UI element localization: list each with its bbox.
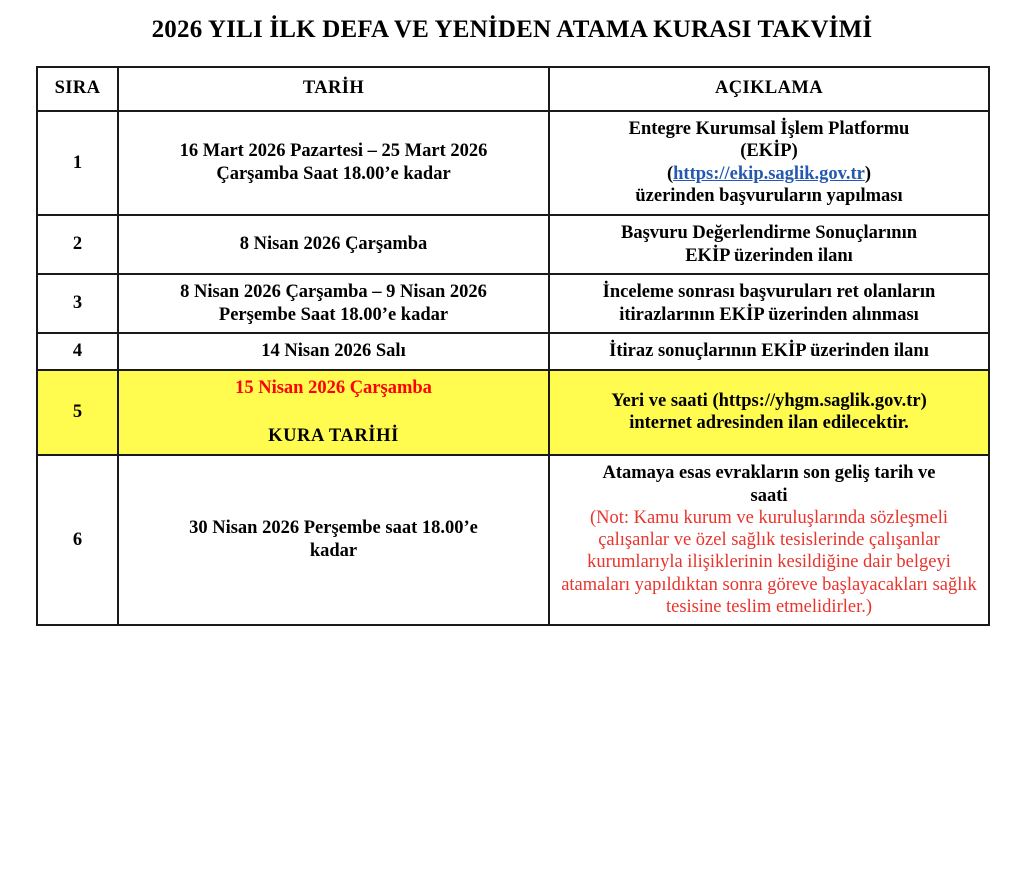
column-header-aciklama: AÇIKLAMA — [549, 67, 989, 111]
row-description: İtiraz sonuçlarının EKİP üzerinden ilanı — [549, 333, 989, 370]
row-date-line: kadar — [127, 540, 540, 563]
row-date-line: 30 Nisan 2026 Perşembe saat 18.00’e — [127, 517, 540, 540]
table-row: 6 30 Nisan 2026 Perşembe saat 18.00’e ka… — [37, 455, 989, 625]
description-line: İtiraz sonuçlarının EKİP üzerinden ilanı — [558, 340, 980, 363]
row-number: 2 — [37, 215, 118, 274]
row-description: Başvuru Değerlendirme Sonuçlarının EKİP … — [549, 215, 989, 274]
kura-takvimi-table: SIRA TARİH AÇIKLAMA 1 16 Mart 2026 Pazar… — [36, 66, 990, 626]
description-note: (Not: Kamu kurum ve kuruluşlarında sözle… — [558, 507, 980, 618]
row-description: Yeri ve saati (https://yhgm.saglik.gov.t… — [549, 370, 989, 455]
row-date-line: 8 Nisan 2026 Çarşamba — [127, 233, 540, 256]
row-date: 15 Nisan 2026 Çarşamba KURA TARİHİ — [118, 370, 549, 455]
table-row: 4 14 Nisan 2026 Salı İtiraz sonuçlarının… — [37, 333, 989, 370]
description-line: İnceleme sonrası başvuruları ret olanlar… — [558, 281, 980, 304]
row-number: 3 — [37, 274, 118, 333]
description-line: EKİP üzerinden ilanı — [558, 245, 980, 268]
description-line: Başvuru Değerlendirme Sonuçlarının — [558, 222, 980, 245]
table-header-row: SIRA TARİH AÇIKLAMA — [37, 67, 989, 111]
row-date: 14 Nisan 2026 Salı — [118, 333, 549, 370]
row-description: İnceleme sonrası başvuruları ret olanlar… — [549, 274, 989, 333]
row-date: 8 Nisan 2026 Çarşamba – 9 Nisan 2026 Per… — [118, 274, 549, 333]
table-row: 1 16 Mart 2026 Pazartesi – 25 Mart 2026 … — [37, 111, 989, 215]
description-line: internet adresinden ilan edilecektir. — [558, 412, 980, 435]
row-date: 16 Mart 2026 Pazartesi – 25 Mart 2026 Ça… — [118, 111, 549, 215]
row-date-line: 16 Mart 2026 Pazartesi – 25 Mart 2026 — [127, 140, 540, 163]
row-date-line: 14 Nisan 2026 Salı — [127, 340, 540, 363]
column-header-tarih: TARİH — [118, 67, 549, 111]
row-number: 5 — [37, 370, 118, 455]
row-description: Entegre Kurumsal İşlem Platformu (EKİP) … — [549, 111, 989, 215]
page-title: 2026 YILI İLK DEFA VE YENİDEN ATAMA KURA… — [0, 0, 1024, 45]
description-link-line: (https://ekip.saglik.gov.tr) — [558, 163, 980, 186]
description-line: üzerinden başvuruların yapılması — [558, 185, 980, 208]
description-line: Entegre Kurumsal İşlem Platformu — [558, 118, 980, 141]
table-row: 3 8 Nisan 2026 Çarşamba – 9 Nisan 2026 P… — [37, 274, 989, 333]
column-header-sira: SIRA — [37, 67, 118, 111]
row-number: 4 — [37, 333, 118, 370]
table-row-highlighted: 5 15 Nisan 2026 Çarşamba KURA TARİHİ Yer… — [37, 370, 989, 455]
row-date-line: Çarşamba Saat 18.00’e kadar — [127, 163, 540, 186]
row-number: 6 — [37, 455, 118, 625]
description-line: Yeri ve saati (https://yhgm.saglik.gov.t… — [558, 390, 980, 413]
row-date-line: Perşembe Saat 18.00’e kadar — [127, 304, 540, 327]
paren-close: ) — [865, 164, 871, 184]
ekip-portal-link[interactable]: https://ekip.saglik.gov.tr — [673, 164, 865, 184]
description-line: (EKİP) — [558, 140, 980, 163]
row-date: 30 Nisan 2026 Perşembe saat 18.00’e kada… — [118, 455, 549, 625]
description-line: saati — [558, 485, 980, 508]
row-number: 1 — [37, 111, 118, 215]
kura-date: 15 Nisan 2026 Çarşamba — [127, 377, 540, 400]
kura-label: KURA TARİHİ — [127, 425, 540, 448]
document-page: 2026 YILI İLK DEFA VE YENİDEN ATAMA KURA… — [0, 0, 1024, 884]
row-description: Atamaya esas evrakların son geliş tarih … — [549, 455, 989, 625]
row-date-line: 8 Nisan 2026 Çarşamba – 9 Nisan 2026 — [127, 281, 540, 304]
description-line: Atamaya esas evrakların son geliş tarih … — [558, 462, 980, 485]
description-line: itirazlarının EKİP üzerinden alınması — [558, 304, 980, 327]
row-date: 8 Nisan 2026 Çarşamba — [118, 215, 549, 274]
table-row: 2 8 Nisan 2026 Çarşamba Başvuru Değerlen… — [37, 215, 989, 274]
